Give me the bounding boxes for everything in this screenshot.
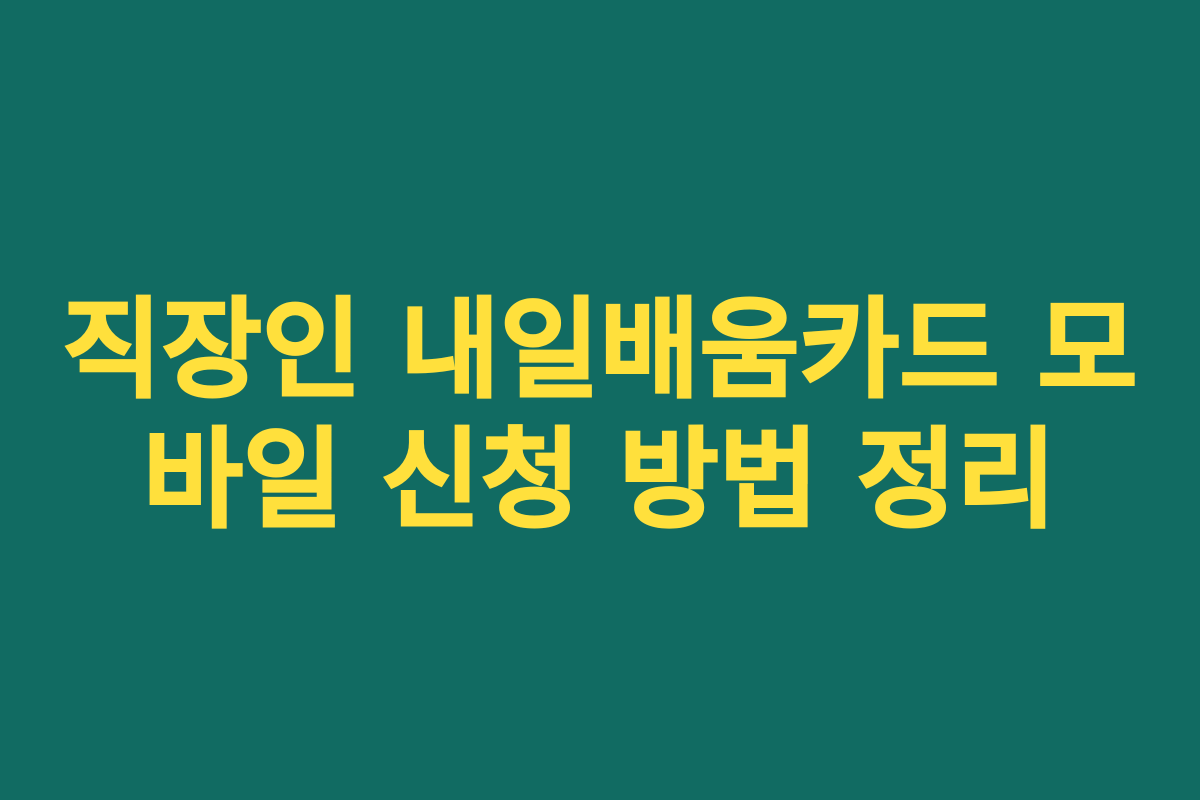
headline-line-1: 직장인 내일배움카드 모 [40, 286, 1160, 416]
headline-line-2: 바일 신청 방법 정리 [40, 416, 1160, 546]
thumbnail-card: 직장인 내일배움카드 모 바일 신청 방법 정리 [0, 0, 1200, 800]
headline-block: 직장인 내일배움카드 모 바일 신청 방법 정리 [0, 286, 1200, 546]
